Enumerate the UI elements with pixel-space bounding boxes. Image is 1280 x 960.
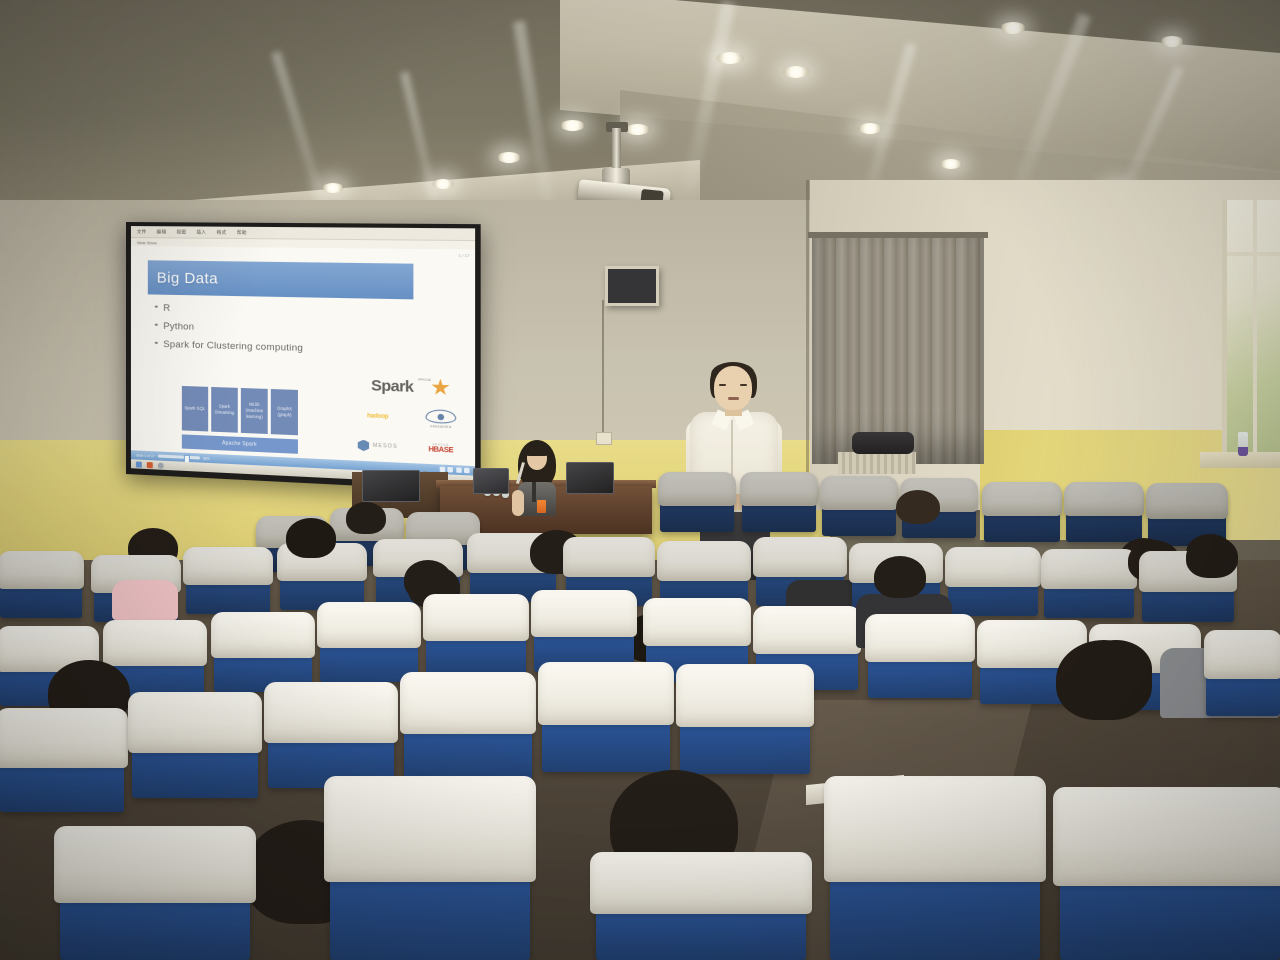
wall-corner-edge [806,180,809,520]
seat[interactable] [0,556,82,618]
eye-left [719,384,726,386]
seat[interactable] [132,700,258,798]
bullet-text: R [163,303,170,314]
hanging-cable [602,300,604,440]
zoom-slider[interactable] [158,454,200,459]
seat[interactable] [1206,636,1280,716]
hadoop-wordmark: hadoop [367,413,388,420]
window-mullion [1253,200,1257,460]
seat[interactable] [542,670,670,772]
seat[interactable] [822,480,896,536]
bullet-text: Python [163,321,194,333]
ceiling-downlight [858,123,882,134]
seat[interactable] [320,608,418,682]
ceiling-downlight [1160,36,1184,47]
mesos-logo: MESOS [352,433,404,458]
radiator [838,452,916,474]
bullet-dot-icon [155,341,157,344]
ceiling-downlight [432,179,454,189]
audience-head [896,490,940,524]
browser-icon[interactable] [158,462,164,468]
seat[interactable] [1066,486,1142,542]
menu-item-file[interactable]: 文件 [137,229,147,235]
toolbar-hint: Slide Show [137,240,157,245]
audience-head [1056,640,1152,720]
seat[interactable] [268,690,394,788]
cassandra-logo: cassandra [415,407,468,432]
spark-module-row: Spark SQL Spark Streaming MLlib (machine… [182,386,298,435]
slideshow-icon[interactable] [464,468,470,474]
slide-counter: 1 / 17 [458,253,469,258]
wall-mounted-display [605,266,659,306]
page-title: Big Data [148,269,218,287]
seat[interactable] [60,836,250,960]
screen-content: 文件 编辑 视图 插入 格式 帮助 Slide Show 1 / 17 Big … [131,226,475,485]
menu-item-insert[interactable]: 插入 [196,229,206,235]
partner-logo-grid: hadoop cassandra MESOS APACHE HBASE [352,404,470,461]
star-icon [431,378,450,397]
seat[interactable] [742,476,816,532]
seat[interactable] [330,790,530,960]
zoom-level: 68% [203,456,210,460]
slide-title-band: Big Data [148,260,414,299]
audience-head [286,518,336,558]
laptop-left[interactable] [362,470,420,502]
menu-item-view[interactable]: 视图 [176,229,186,235]
ceiling-downlight [1000,22,1026,34]
arm [512,490,524,516]
ceiling-downlight [497,152,521,163]
face [714,366,752,410]
mesos-wordmark: MESOS [373,443,398,450]
reading-view-icon[interactable] [456,467,462,473]
seat[interactable] [596,860,806,960]
sorter-view-icon[interactable] [447,467,453,473]
slide-canvas: 1 / 17 Big Data R Python Spark [131,246,475,466]
hbase-wordmark: HBASE [428,446,453,454]
spark-module-mllib: MLlib (machine learning) [241,388,267,434]
hair-fringe [524,442,550,456]
apache-spark-logo: Spark APACHE [352,369,470,404]
spark-core-bar: Apache Spark [182,434,298,453]
apache-prefix: APACHE [418,377,431,382]
seat[interactable] [0,716,124,812]
eye-icon [425,409,456,424]
hbase-logo: APACHE HBASE [415,436,468,462]
bullet-dot-icon [155,305,157,308]
laptop-podium-right[interactable] [566,462,614,494]
spark-module-streaming: Spark Streaming [211,387,237,433]
seat[interactable] [984,486,1060,542]
audience-head [1186,536,1238,578]
seat[interactable] [1044,554,1134,618]
slide-bullet-list: R Python Spark for Clustering computing [155,303,303,362]
lecture-hall-photo: 文件 编辑 视图 插入 格式 帮助 Slide Show 1 / 17 Big … [0,0,1280,960]
seat[interactable] [830,790,1040,960]
hadoop-logo: hadoop [352,404,404,429]
logo-collection: Spark APACHE hadoop cassandra [352,369,470,462]
seat[interactable] [404,680,532,780]
audience-torso [112,580,178,620]
seat[interactable] [214,618,312,692]
seat[interactable] [186,552,270,614]
black-bag [852,432,914,454]
audience-head [874,556,926,598]
ceiling-downlight [940,159,962,169]
seat[interactable] [868,620,972,698]
ceiling-downlight [322,183,344,193]
spark-module-graphx: GraphX (graph) [271,389,298,435]
list-item: Spark for Clustering computing [155,339,303,354]
spark-wordmark: Spark [371,376,413,395]
top-strap [532,482,536,502]
list-item: Python [155,321,303,336]
seat[interactable] [534,596,634,672]
window-curtain[interactable] [812,238,984,464]
seat[interactable] [680,672,810,774]
mesos-mark-icon [358,439,370,451]
menu-item-format[interactable]: 格式 [216,229,226,235]
orange-cup[interactable] [537,500,546,513]
seat[interactable] [280,548,364,610]
window [1222,200,1280,460]
laptop-podium-left[interactable] [473,468,509,494]
mouth [728,397,739,400]
projection-screen[interactable]: 文件 编辑 视图 插入 格式 帮助 Slide Show 1 / 17 Big … [126,222,481,492]
bullet-text: Spark for Clustering computing [163,339,303,354]
menu-item-edit[interactable]: 编辑 [157,229,167,235]
spark-stack-diagram: Spark SQL Spark Streaming MLlib (machine… [182,386,298,454]
bullet-dot-icon [155,323,157,326]
seat[interactable] [948,552,1038,616]
eye-right [740,384,747,386]
list-item: R [155,303,303,317]
explorer-icon[interactable] [136,461,142,467]
seat[interactable] [660,476,734,532]
cassandra-wordmark: cassandra [430,424,451,429]
powerpoint-icon[interactable] [147,462,153,468]
slide-view-label: Slide 1 of 17 [136,453,155,458]
seat[interactable] [1060,800,1280,960]
menu-item-help[interactable]: 帮助 [237,229,247,235]
spark-module-sql: Spark SQL [182,386,208,432]
ceiling-downlight [783,66,809,78]
audience-head [346,502,386,534]
ceiling-downlight [716,52,744,64]
wall-outlet [596,432,612,445]
seat[interactable] [426,600,526,676]
water-bottle-on-sill[interactable] [1238,432,1248,456]
